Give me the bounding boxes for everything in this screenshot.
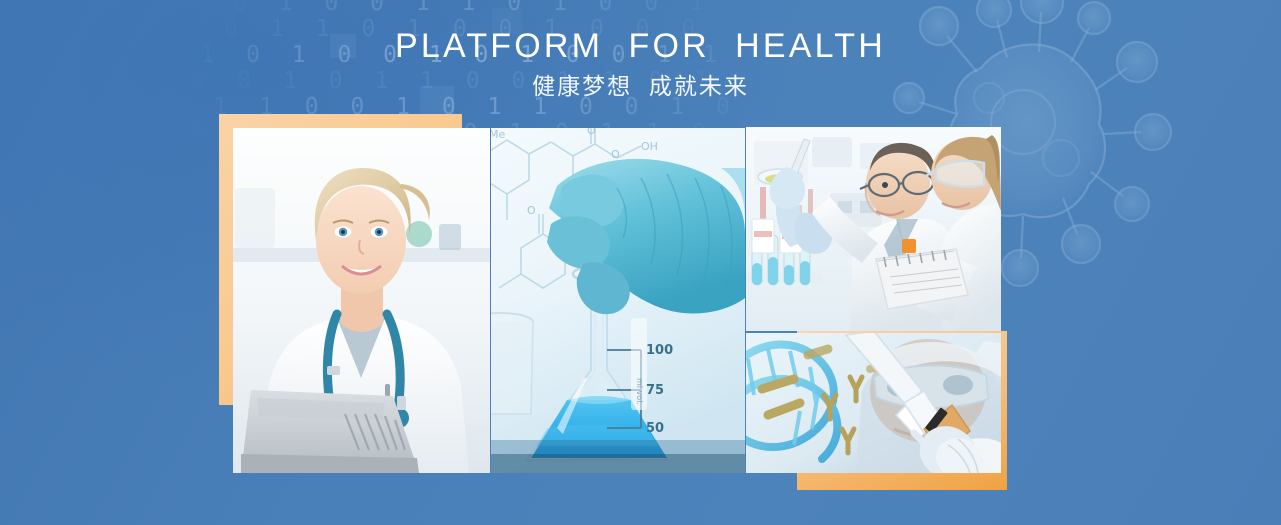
chemistry-flask-photo: Me Me O O OH O <box>491 128 745 473</box>
svg-text:ml vol.: ml vol. <box>635 378 644 405</box>
svg-text:Me: Me <box>491 128 505 141</box>
dna-analysis-photo <box>746 333 1001 473</box>
lab-researchers-photo <box>746 127 1001 331</box>
svg-text:OH: OH <box>641 140 658 153</box>
svg-text:50: 50 <box>646 421 664 436</box>
banner-headline: PLATFORM FOR HEALTH 健康梦想 成就未来 <box>0 26 1281 100</box>
svg-text:O: O <box>611 148 620 161</box>
health-platform-banner: 0 1 0 0 1 0 0 1 1 0 1 0 0 1 0 0 0 1 11 0… <box>0 0 1281 525</box>
svg-text:O: O <box>527 204 536 217</box>
svg-text:100: 100 <box>646 343 673 358</box>
svg-text:O: O <box>587 128 596 137</box>
smiling-female-doctor-photo <box>233 128 490 473</box>
page-title: PLATFORM FOR HEALTH <box>0 26 1281 66</box>
svg-text:75: 75 <box>646 383 664 398</box>
page-subtitle: 健康梦想 成就未来 <box>0 72 1281 100</box>
